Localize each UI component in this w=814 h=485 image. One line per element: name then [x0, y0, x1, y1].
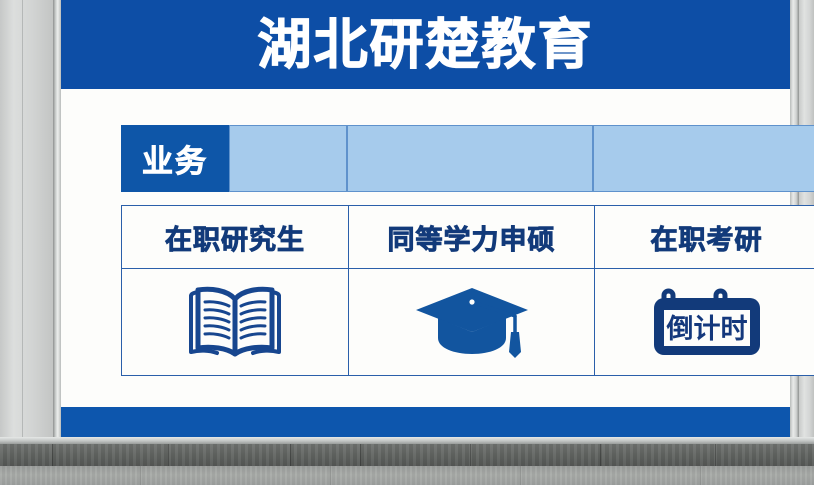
wall-panel-left-2 [0, 105, 54, 216]
table-cell-icon-graduation-cap[interactable] [348, 269, 594, 375]
open-book-icon [179, 282, 291, 362]
wall-panel-right-1 [799, 0, 814, 106]
table-row-labels: 在职研究生 同等学力申硕 在职考研 [122, 206, 814, 268]
wall-panel-left-1 [0, 0, 54, 106]
page-title: 湖北研楚教育 [258, 18, 594, 72]
table-header-row: 业务 [121, 125, 814, 192]
services-table: 业务 在职研究生 同等学力申硕 在职考研 [121, 125, 814, 376]
service-label-2: 同等学力申硕 [388, 218, 556, 257]
countdown-calendar-icon: 倒计时 [646, 281, 768, 363]
table-cell-icon-countdown-calendar[interactable]: 倒计时 [594, 269, 814, 375]
table-cell-label-tongdeng-xueli[interactable]: 同等学力申硕 [348, 206, 594, 268]
table-cell-icon-open-book[interactable] [122, 269, 348, 375]
wall-seam-left-vertical [22, 0, 23, 444]
table-body-grid: 在职研究生 同等学力申硕 在职考研 [121, 205, 814, 376]
floor-tiles [0, 466, 814, 485]
sign-frame-left-edge [53, 0, 61, 437]
floor-metal-trim [0, 437, 814, 444]
table-cell-label-zaizhi-kaoyan[interactable]: 在职考研 [594, 206, 814, 268]
table-header-category-cell: 业务 [121, 125, 229, 192]
table-row-icons: 倒计时 [122, 268, 814, 375]
wall-panel-left-3 [0, 215, 54, 326]
service-label-1: 在职研究生 [165, 218, 305, 257]
signboard-scene: 湖北研楚教育 业务 在职研究生 同等学力申硕 [0, 0, 814, 485]
graduation-cap-icon [412, 282, 532, 362]
floor-baseboard [0, 444, 814, 466]
table-header-cell-1 [229, 125, 347, 192]
table-header-cell-3 [593, 125, 814, 192]
countdown-label: 倒计时 [665, 314, 747, 345]
signboard-header-banner: 湖北研楚教育 [61, 0, 790, 89]
table-cell-label-zaizhi-yanjiusheng[interactable]: 在职研究生 [122, 206, 348, 268]
signboard-panel: 湖北研楚教育 业务 在职研究生 同等学力申硕 [61, 0, 790, 437]
wall-panel-left-4 [0, 325, 54, 445]
table-header-category-label: 业务 [142, 136, 208, 181]
service-label-3: 在职考研 [651, 218, 763, 257]
signboard-footer-band [61, 407, 790, 437]
table-header-cell-2 [347, 125, 593, 192]
